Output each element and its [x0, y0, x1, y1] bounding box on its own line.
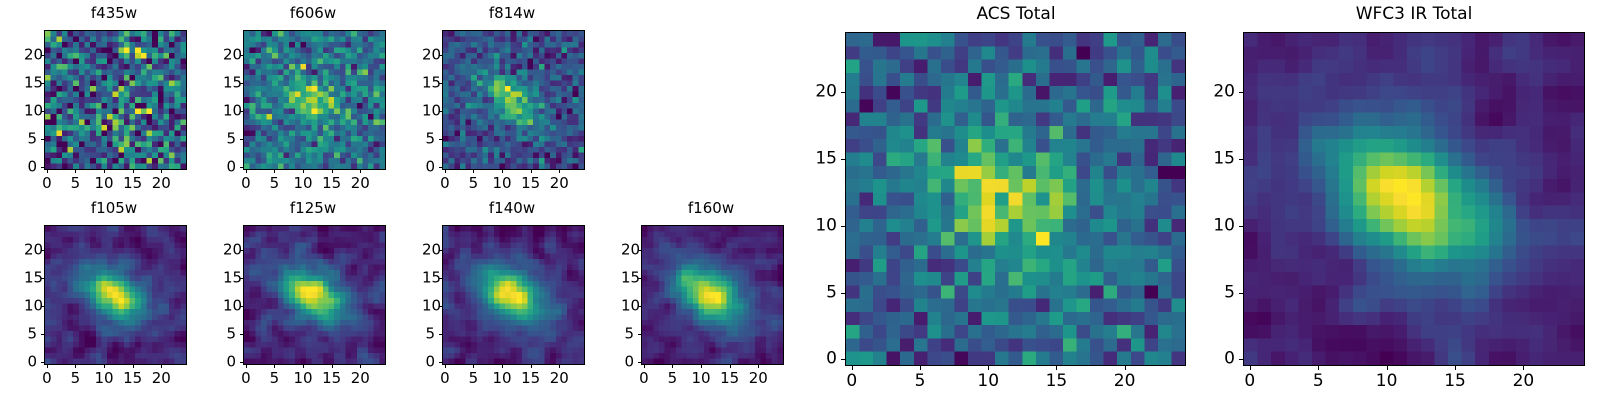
x-tick-mark: [531, 170, 532, 173]
x-tick-mark: [47, 365, 48, 368]
panel-f160w: f160w 0510152005101520: [621, 201, 801, 366]
panel-f606w: f606w 0510152005101520: [223, 6, 403, 171]
panel-wfc3-ir-total: WFC3 IR Total 0510152005101520: [1203, 6, 1585, 366]
y-tick-mark: [1239, 226, 1243, 227]
x-tick-label: 20: [351, 176, 370, 191]
y-tick-label: 15: [621, 271, 634, 286]
y-tick-mark: [240, 334, 243, 335]
panel-title: f125w: [223, 201, 403, 216]
x-tick-mark: [161, 170, 162, 173]
y-tick-mark: [439, 139, 442, 140]
x-tick-mark: [133, 170, 134, 173]
x-tick-label: 15: [123, 176, 142, 191]
y-tick-label: 15: [422, 76, 435, 91]
x-tick-label: 5: [469, 176, 479, 191]
y-tick-label: 20: [422, 243, 435, 258]
plot-area-f105w[interactable]: [44, 225, 187, 365]
y-tick-label: 5: [422, 327, 435, 342]
x-tick-mark: [852, 366, 853, 370]
panel-title: f435w: [24, 6, 204, 21]
y-tick-label: 10: [24, 299, 37, 314]
y-tick-label: 15: [1203, 150, 1235, 167]
y-tick-mark: [1239, 92, 1243, 93]
y-tick-label: 5: [24, 327, 37, 342]
y-tick-label: 15: [24, 271, 37, 286]
x-tick-mark: [332, 365, 333, 368]
y-tick-mark: [1239, 359, 1243, 360]
y-tick-label: 15: [223, 271, 236, 286]
y-tick-label: 10: [621, 299, 634, 314]
x-tick-label: 0: [440, 176, 450, 191]
y-tick-label: 10: [422, 104, 435, 119]
plot-area-f140w[interactable]: [442, 225, 585, 365]
x-tick-mark: [1056, 366, 1057, 370]
cutout-image: [1244, 33, 1584, 365]
x-tick-label: 20: [749, 371, 768, 386]
x-tick-mark: [75, 365, 76, 368]
x-tick-mark: [303, 365, 304, 368]
x-tick-label: 20: [1114, 373, 1136, 390]
x-tick-label: 5: [668, 371, 678, 386]
y-tick-label: 10: [422, 299, 435, 314]
plot-area-f606w[interactable]: [243, 30, 386, 170]
x-tick-mark: [274, 170, 275, 173]
x-tick-mark: [274, 365, 275, 368]
y-tick-mark: [638, 334, 641, 335]
y-tick-mark: [41, 139, 44, 140]
y-tick-label: 0: [621, 355, 634, 370]
y-tick-mark: [841, 159, 845, 160]
x-tick-label: 15: [521, 176, 540, 191]
x-tick-mark: [246, 365, 247, 368]
x-tick-label: 20: [152, 371, 171, 386]
x-tick-mark: [47, 170, 48, 173]
x-tick-label: 10: [493, 371, 512, 386]
y-tick-mark: [240, 362, 243, 363]
cutout-image: [244, 226, 385, 364]
x-tick-mark: [1523, 366, 1524, 370]
x-tick-label: 20: [351, 371, 370, 386]
y-tick-label: 0: [805, 351, 837, 368]
y-tick-label: 0: [24, 355, 37, 370]
x-tick-mark: [502, 170, 503, 173]
x-tick-label: 10: [977, 373, 999, 390]
x-tick-label: 5: [270, 176, 280, 191]
plot-area-f814w[interactable]: [442, 30, 585, 170]
x-tick-mark: [920, 366, 921, 370]
panel-title: f606w: [223, 6, 403, 21]
y-tick-mark: [240, 139, 243, 140]
x-tick-mark: [1387, 366, 1388, 370]
x-tick-label: 10: [692, 371, 711, 386]
x-tick-label: 0: [42, 176, 52, 191]
y-tick-label: 10: [805, 217, 837, 234]
x-tick-mark: [502, 365, 503, 368]
cutout-image: [244, 31, 385, 169]
x-tick-label: 15: [123, 371, 142, 386]
x-tick-mark: [473, 170, 474, 173]
x-tick-label: 10: [95, 371, 114, 386]
y-tick-mark: [841, 92, 845, 93]
x-tick-mark: [672, 365, 673, 368]
y-tick-mark: [841, 359, 845, 360]
y-tick-label: 20: [621, 243, 634, 258]
y-tick-label: 10: [1203, 217, 1235, 234]
y-tick-mark: [439, 167, 442, 168]
panel-title: f814w: [422, 6, 602, 21]
x-tick-mark: [701, 365, 702, 368]
y-tick-mark: [841, 293, 845, 294]
panel-title: ACS Total: [845, 6, 1187, 23]
x-tick-mark: [75, 170, 76, 173]
x-tick-label: 5: [1313, 373, 1324, 390]
y-tick-label: 20: [24, 48, 37, 63]
panel-title: f160w: [621, 201, 801, 216]
x-tick-mark: [758, 365, 759, 368]
y-tick-label: 20: [223, 243, 236, 258]
y-tick-label: 20: [223, 48, 236, 63]
cutout-image: [443, 31, 584, 169]
y-tick-mark: [41, 334, 44, 335]
x-tick-label: 15: [322, 176, 341, 191]
y-tick-label: 20: [24, 243, 37, 258]
y-tick-mark: [41, 167, 44, 168]
y-tick-label: 5: [805, 284, 837, 301]
x-tick-label: 10: [294, 176, 313, 191]
x-tick-label: 5: [469, 371, 479, 386]
y-tick-label: 5: [1203, 284, 1235, 301]
x-tick-label: 5: [915, 373, 926, 390]
y-tick-label: 0: [24, 160, 37, 175]
panel-title: f105w: [24, 201, 204, 216]
x-tick-label: 0: [241, 371, 251, 386]
y-tick-mark: [240, 167, 243, 168]
x-tick-mark: [730, 365, 731, 368]
x-tick-mark: [133, 365, 134, 368]
x-tick-label: 10: [95, 176, 114, 191]
y-tick-mark: [439, 334, 442, 335]
x-tick-label: 15: [322, 371, 341, 386]
y-tick-label: 0: [422, 160, 435, 175]
x-tick-label: 0: [1244, 373, 1255, 390]
y-tick-label: 10: [24, 104, 37, 119]
x-tick-mark: [445, 170, 446, 173]
y-tick-label: 5: [24, 132, 37, 147]
plot-area-f125w[interactable]: [243, 225, 386, 365]
x-tick-label: 0: [440, 371, 450, 386]
y-tick-label: 5: [223, 132, 236, 147]
x-tick-mark: [104, 365, 105, 368]
y-tick-mark: [41, 362, 44, 363]
cutout-image: [45, 31, 186, 169]
y-tick-label: 20: [805, 84, 837, 101]
x-tick-mark: [559, 170, 560, 173]
x-tick-label: 0: [639, 371, 649, 386]
x-tick-label: 15: [1046, 373, 1068, 390]
cutout-image: [846, 33, 1185, 365]
y-tick-label: 5: [223, 327, 236, 342]
plot-area-f160w[interactable]: [641, 225, 784, 365]
x-tick-label: 20: [550, 371, 569, 386]
x-tick-label: 20: [152, 176, 171, 191]
x-tick-mark: [644, 365, 645, 368]
x-tick-mark: [104, 170, 105, 173]
y-tick-mark: [1239, 293, 1243, 294]
panel-f140w: f140w 0510152005101520: [422, 201, 602, 366]
cutout-image: [443, 226, 584, 364]
panel-f105w: f105w 0510152005101520: [24, 201, 204, 366]
x-tick-label: 0: [42, 371, 52, 386]
x-tick-mark: [1250, 366, 1251, 370]
y-tick-label: 0: [223, 355, 236, 370]
x-tick-mark: [445, 365, 446, 368]
y-tick-label: 20: [422, 48, 435, 63]
panel-acs-total: ACS Total 0510152005101520: [805, 6, 1187, 366]
y-tick-mark: [439, 362, 442, 363]
x-tick-mark: [1455, 366, 1456, 370]
y-tick-label: 10: [223, 299, 236, 314]
cutout-image: [45, 226, 186, 364]
cutout-image: [642, 226, 783, 364]
x-tick-label: 0: [846, 373, 857, 390]
x-tick-mark: [1318, 366, 1319, 370]
y-tick-label: 0: [422, 355, 435, 370]
y-tick-label: 0: [223, 160, 236, 175]
y-tick-mark: [638, 362, 641, 363]
x-tick-label: 10: [1376, 373, 1398, 390]
y-tick-mark: [1239, 159, 1243, 160]
plot-area-wfc3-ir-total[interactable]: [1243, 32, 1585, 366]
plot-area-acs-total[interactable]: [845, 32, 1186, 366]
y-tick-label: 15: [805, 150, 837, 167]
x-tick-mark: [531, 365, 532, 368]
x-tick-mark: [1125, 366, 1126, 370]
x-tick-mark: [360, 170, 361, 173]
x-tick-label: 0: [241, 176, 251, 191]
x-tick-label: 15: [720, 371, 739, 386]
x-tick-mark: [246, 170, 247, 173]
x-tick-mark: [988, 366, 989, 370]
plot-area-f435w[interactable]: [44, 30, 187, 170]
x-tick-label: 5: [71, 371, 81, 386]
panel-f814w: f814w 0510152005101520: [422, 6, 602, 171]
x-tick-label: 15: [1444, 373, 1466, 390]
x-tick-label: 5: [71, 176, 81, 191]
y-tick-label: 20: [1203, 84, 1235, 101]
y-tick-mark: [841, 226, 845, 227]
x-tick-mark: [360, 365, 361, 368]
y-tick-label: 15: [223, 76, 236, 91]
x-tick-label: 5: [270, 371, 280, 386]
x-tick-mark: [473, 365, 474, 368]
y-tick-label: 5: [621, 327, 634, 342]
y-tick-label: 15: [24, 76, 37, 91]
y-tick-label: 5: [422, 132, 435, 147]
panel-f435w: f435w 0510152005101520: [24, 6, 204, 171]
x-tick-mark: [559, 365, 560, 368]
panel-title: WFC3 IR Total: [1243, 6, 1585, 23]
x-tick-label: 20: [1513, 373, 1535, 390]
y-tick-label: 0: [1203, 351, 1235, 368]
x-tick-mark: [161, 365, 162, 368]
x-tick-mark: [303, 170, 304, 173]
panel-f125w: f125w 0510152005101520: [223, 201, 403, 366]
panel-title: f140w: [422, 201, 602, 216]
y-tick-label: 15: [422, 271, 435, 286]
y-tick-label: 10: [223, 104, 236, 119]
x-tick-label: 20: [550, 176, 569, 191]
x-tick-label: 10: [493, 176, 512, 191]
x-tick-label: 15: [521, 371, 540, 386]
x-tick-mark: [332, 170, 333, 173]
x-tick-label: 10: [294, 371, 313, 386]
